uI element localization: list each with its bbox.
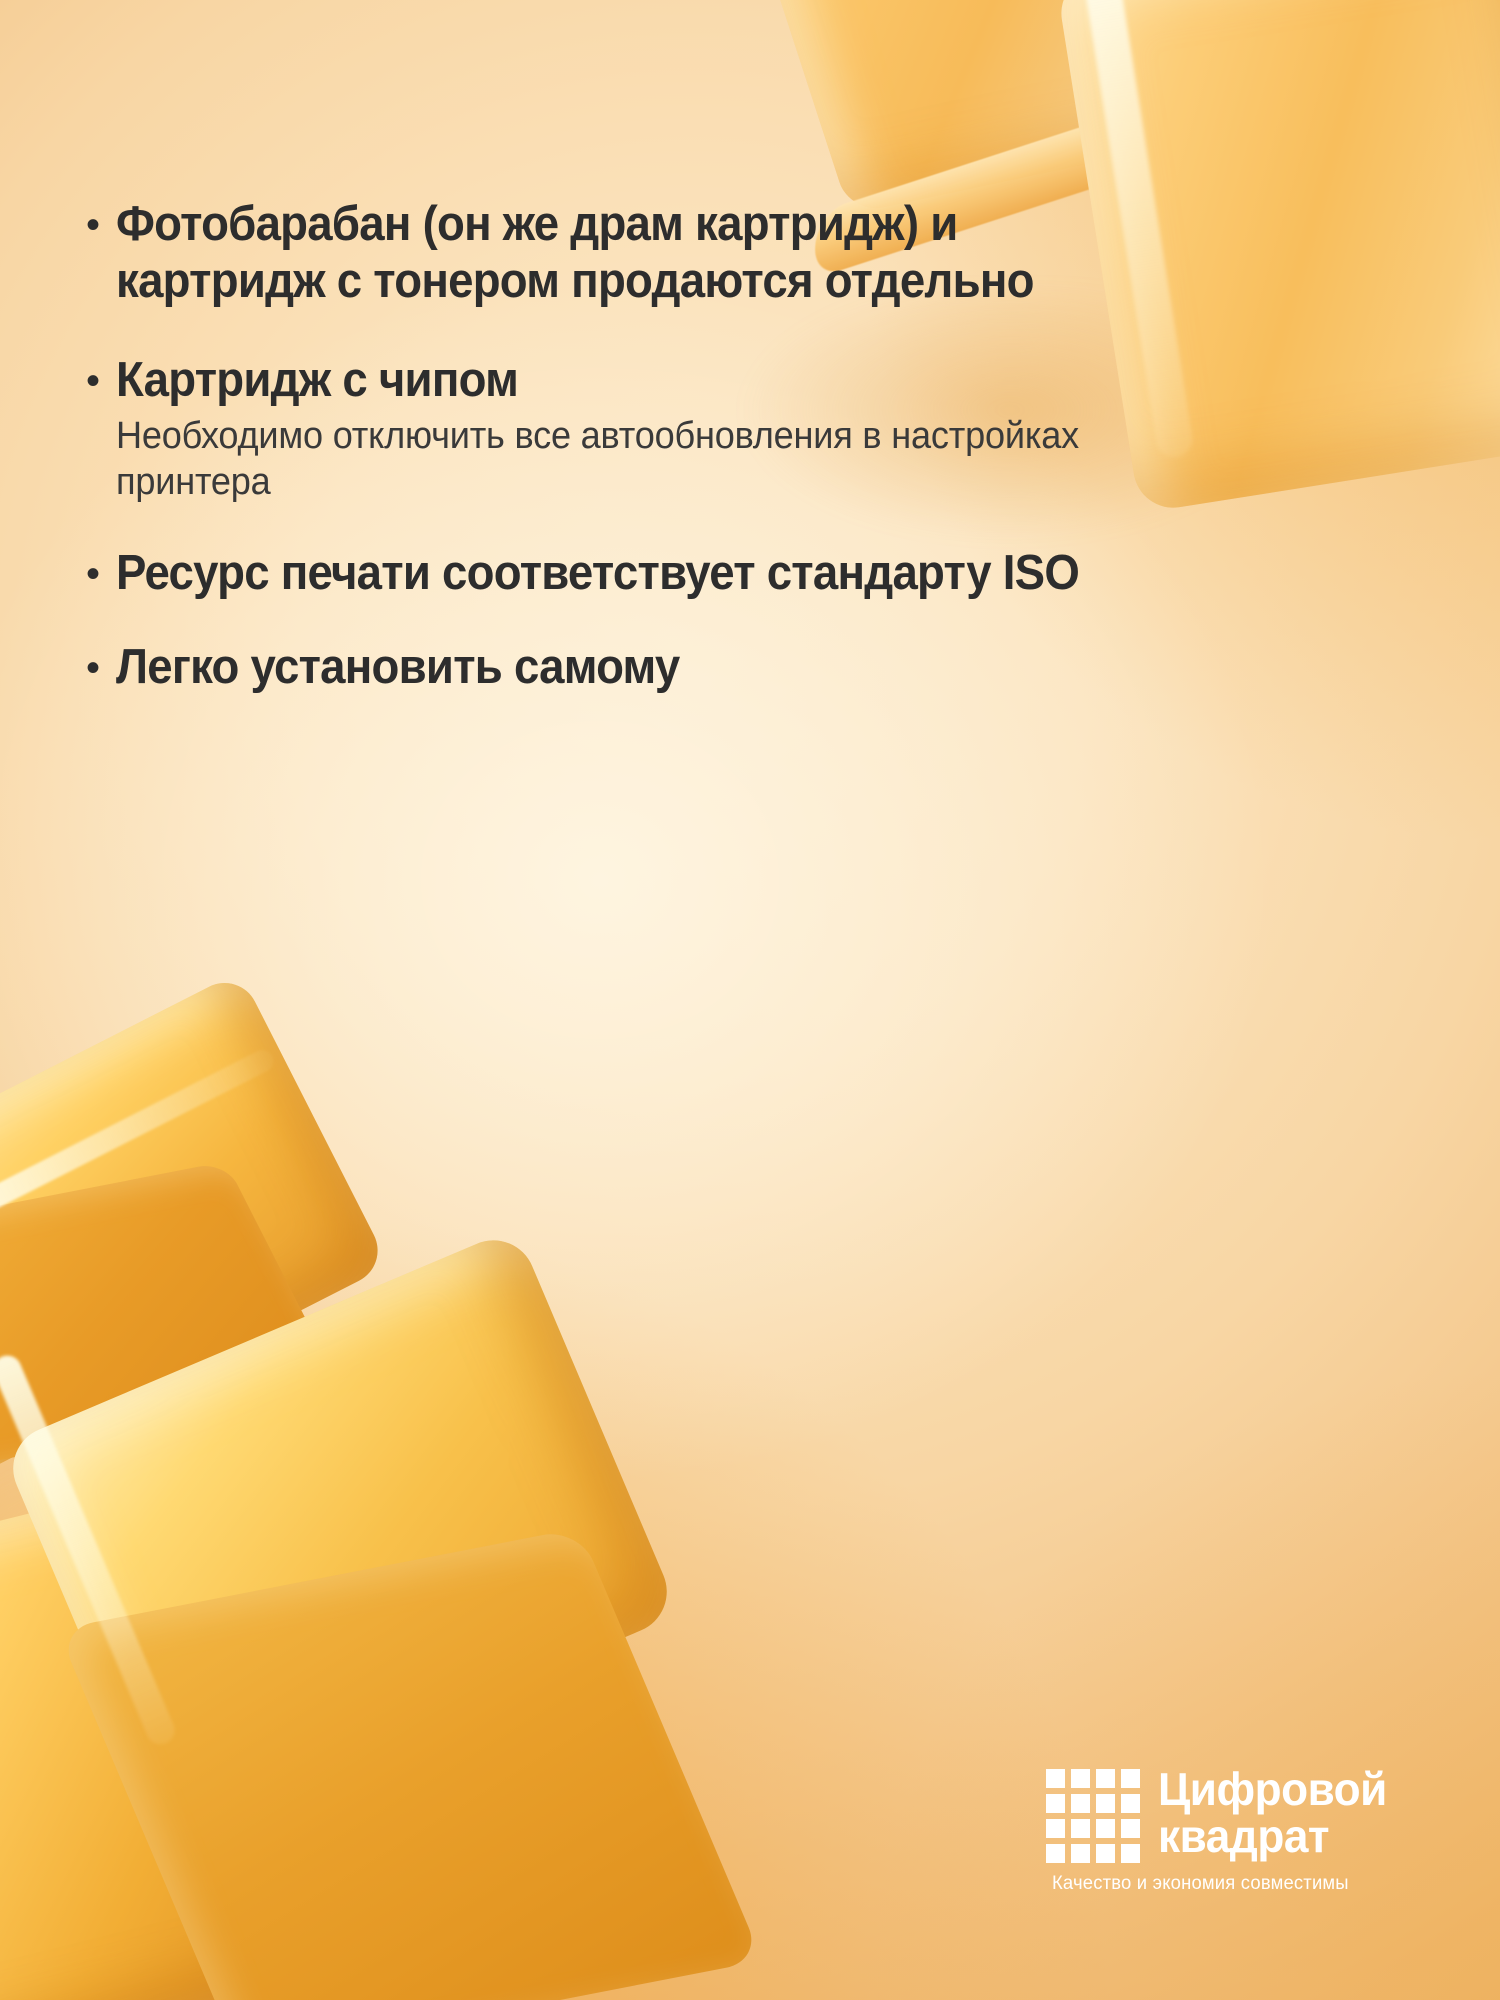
list-item-subline: Необходимо отключить все автообновления … bbox=[116, 413, 1123, 505]
grid-4x4-icon bbox=[1046, 1769, 1140, 1863]
brand-name-line-1: Цифровой bbox=[1158, 1766, 1387, 1813]
bullet-dot-icon: • bbox=[86, 352, 116, 410]
list-item-body: Легко установить самому bbox=[116, 639, 1176, 696]
list-item-headline: Ресурс печати соответствует стандарту IS… bbox=[116, 545, 1102, 602]
promo-slide: • Фотобарабан (он же драм картридж) и ка… bbox=[0, 0, 1500, 2000]
list-item: • Фотобарабан (он же драм картридж) и ка… bbox=[86, 196, 1176, 310]
brand-name-line-2: квадрат bbox=[1158, 1813, 1387, 1860]
list-item: • Легко установить самому bbox=[86, 639, 1176, 697]
list-item-body: Фотобарабан (он же драм картридж) и карт… bbox=[116, 196, 1176, 310]
brand-logo: Цифровой квадрат Качество и экономия сов… bbox=[1046, 1766, 1396, 1896]
list-item: • Ресурс печати соответствует стандарту … bbox=[86, 545, 1176, 603]
list-item-headline: Фотобарабан (он же драм картридж) и карт… bbox=[116, 196, 1102, 310]
feature-bullet-list: • Фотобарабан (он же драм картридж) и ка… bbox=[86, 196, 1176, 697]
brand-name: Цифровой квадрат bbox=[1158, 1766, 1387, 1860]
brand-tagline: Качество и экономия совместимы bbox=[1052, 1872, 1349, 1896]
list-item: • Картридж с чипом Необходимо отключить … bbox=[86, 352, 1176, 505]
bullet-dot-icon: • bbox=[86, 639, 116, 697]
list-item-body: Ресурс печати соответствует стандарту IS… bbox=[116, 545, 1176, 602]
list-item-body: Картридж с чипом Необходимо отключить вс… bbox=[116, 352, 1176, 505]
bullet-dot-icon: • bbox=[86, 545, 116, 603]
bullet-dot-icon: • bbox=[86, 196, 116, 254]
brand-logo-main: Цифровой квадрат bbox=[1046, 1766, 1396, 1863]
list-item-headline: Легко установить самому bbox=[116, 639, 1102, 696]
list-item-headline: Картридж с чипом bbox=[116, 352, 1102, 409]
